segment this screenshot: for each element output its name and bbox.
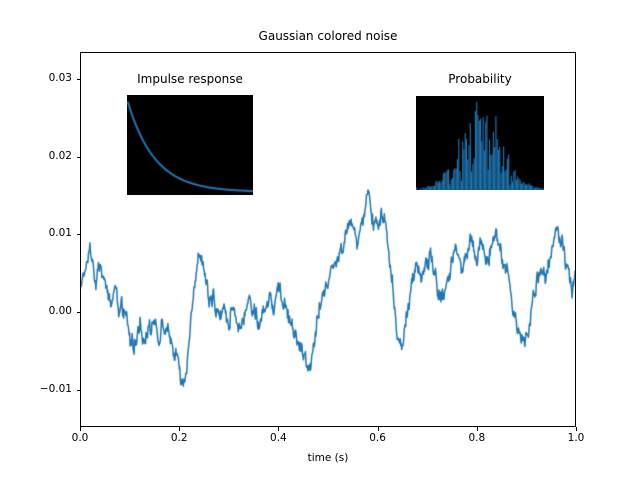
y-tick-label: −0.01 [12,383,72,395]
x-tick-mark [278,427,279,431]
x-tick-label: 1.0 [546,432,606,444]
x-tick-label: 0.6 [348,432,408,444]
y-tick-label: 0.01 [12,227,72,239]
inset-probability-histogram [416,96,544,190]
x-tick-label: 0.0 [50,432,110,444]
y-tick-label: 0.00 [12,305,72,317]
x-tick-mark [378,427,379,431]
x-tick-label: 0.8 [447,432,507,444]
x-tick-label: 0.4 [248,432,308,444]
x-tick-mark [477,427,478,431]
matplotlib-figure: Gaussian colored noise current (nA) time… [0,0,640,480]
x-tick-mark [576,427,577,431]
page-title: Gaussian colored noise [80,29,576,43]
y-tick-label: 0.02 [12,150,72,162]
x-tick-mark [179,427,180,431]
x-axis-label: time (s) [80,452,576,464]
impulse-response-curve [127,95,253,195]
y-tick-label: 0.03 [12,72,72,84]
inset-impulse-response [127,95,253,195]
x-tick-label: 0.2 [149,432,209,444]
probability-histogram [416,96,544,190]
x-tick-mark [80,427,81,431]
inset-impulse-title: Impulse response [117,72,263,86]
inset-probability-title: Probability [406,72,554,86]
